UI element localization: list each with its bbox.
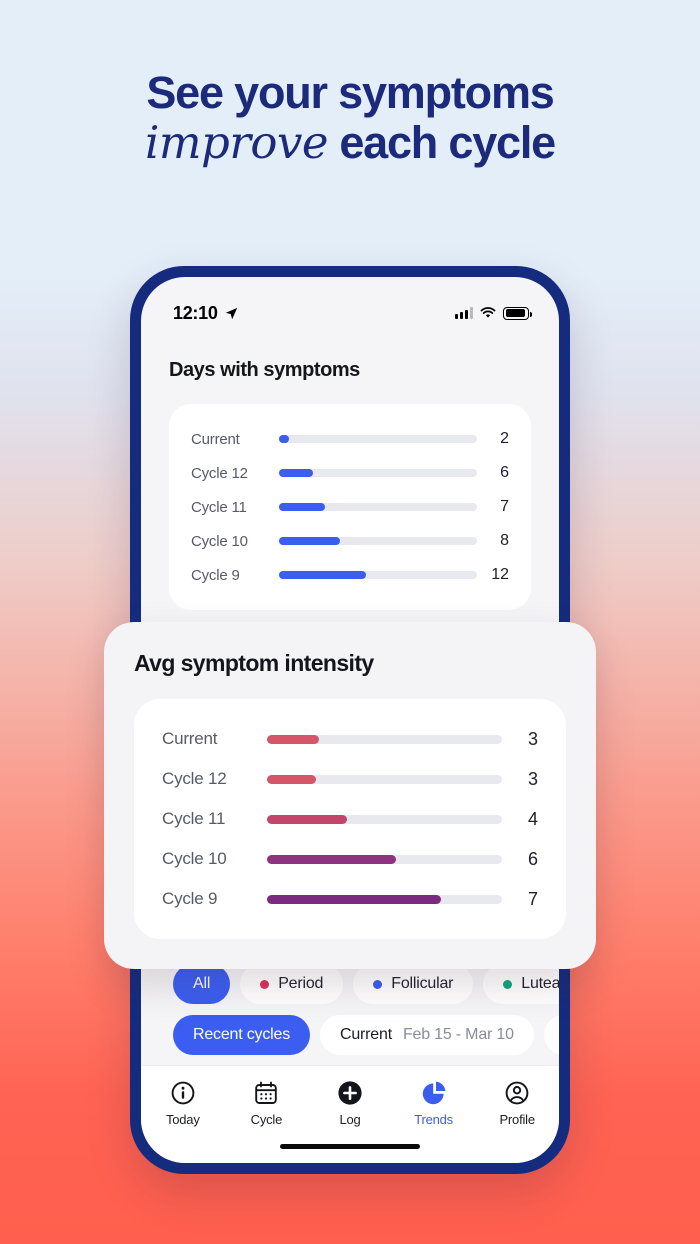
row-value: 3 [502, 769, 538, 790]
period-dot-icon [260, 980, 269, 989]
cellular-signal-icon [455, 307, 473, 319]
nav-item-profile[interactable]: Profile [475, 1080, 559, 1127]
chip-period[interactable]: Period [240, 964, 343, 1004]
avg-symptom-intensity-card: Avg symptom intensity Current 3 Cycle 12… [104, 622, 596, 969]
table-row: Cycle 10 8 [191, 524, 509, 558]
table-row: Current 3 [162, 719, 538, 759]
nav-label: Profile [499, 1112, 534, 1127]
bar-track [267, 735, 502, 744]
bar-track [279, 571, 477, 579]
table-row: Cycle 11 4 [162, 799, 538, 839]
days-with-symptoms-card: Days with symptoms Current 2 Cycle 12 6 … [141, 333, 559, 610]
chip-current-range[interactable]: Current Feb 15 - Mar 10 [320, 1015, 534, 1055]
row-label: Cycle 9 [162, 889, 267, 909]
row-value: 2 [477, 430, 509, 448]
days-card-panel: Current 2 Cycle 12 6 Cycle 11 7 Cycle 10 [169, 404, 531, 610]
intensity-card-panel: Current 3 Cycle 12 3 Cycle 11 4 Cycle 10… [134, 699, 566, 939]
bar-track [267, 815, 502, 824]
chip-label: Period [278, 975, 323, 993]
follicular-dot-icon [373, 980, 382, 989]
chip-all[interactable]: All [173, 964, 230, 1004]
row-label: Current [191, 431, 279, 448]
headline-line-1: See your symptoms [0, 68, 700, 118]
status-time: 12:10 [173, 303, 218, 324]
table-row: Cycle 12 3 [162, 759, 538, 799]
filter-chips-area: All Period Follicular Luteal Recent cycl [141, 964, 559, 1055]
nav-item-cycle[interactable]: Cycle [225, 1080, 309, 1127]
headline-emphasis: improve [145, 116, 328, 169]
bar-track [267, 895, 502, 904]
row-label: Cycle 12 [191, 465, 279, 482]
row-value: 4 [502, 809, 538, 830]
row-value: 12 [477, 566, 509, 584]
headline-line-2: improve each cycle [0, 118, 700, 168]
plus-circle-icon [337, 1080, 363, 1106]
location-arrow-icon [225, 307, 238, 320]
nav-item-trends[interactable]: Trends [392, 1080, 476, 1127]
bar-track [279, 469, 477, 477]
info-circle-icon [170, 1080, 196, 1106]
row-label: Cycle 12 [162, 769, 267, 789]
nav-item-today[interactable]: Today [141, 1080, 225, 1127]
status-bar-right [455, 307, 529, 320]
row-label: Cycle 11 [162, 809, 267, 829]
chip-label: Current [340, 1026, 392, 1044]
bar-track [279, 537, 477, 545]
chip-label: Follicular [391, 975, 453, 993]
row-value: 6 [502, 849, 538, 870]
battery-icon [503, 307, 529, 320]
nav-label: Trends [414, 1112, 453, 1127]
table-row: Cycle 11 7 [191, 490, 509, 524]
bar-track [279, 435, 477, 443]
row-value: 3 [502, 729, 538, 750]
page-headline: See your symptoms improve each cycle [0, 68, 700, 169]
chip-label: Recent cycles [193, 1026, 290, 1044]
wifi-icon [480, 307, 496, 319]
chip-recent-cycles[interactable]: Recent cycles [173, 1015, 310, 1055]
row-value: 6 [477, 464, 509, 482]
status-bar: 12:10 [141, 277, 559, 333]
bar-track [267, 855, 502, 864]
chip-label: All [193, 975, 210, 993]
table-row: Cycle 12 6 [191, 456, 509, 490]
intensity-card-title: Avg symptom intensity [134, 650, 566, 677]
home-indicator [280, 1144, 420, 1149]
row-label: Cycle 11 [191, 499, 279, 516]
nav-label: Cycle [251, 1112, 283, 1127]
table-row: Cycle 10 6 [162, 839, 538, 879]
row-label: Cycle 9 [191, 567, 279, 584]
chip-date-range: Feb 15 - Mar 10 [403, 1026, 514, 1044]
table-row: Cycle 9 7 [162, 879, 538, 919]
row-label: Cycle 10 [191, 533, 279, 550]
row-label: Current [162, 729, 267, 749]
chip-follicular[interactable]: Follicular [353, 964, 473, 1004]
row-label: Cycle 10 [162, 849, 267, 869]
days-card-title: Days with symptoms [169, 359, 531, 382]
table-row: Current 2 [191, 422, 509, 456]
chip-label: Luteal [521, 975, 559, 993]
chip-luteal[interactable]: Luteal [483, 964, 559, 1004]
row-value: 7 [502, 889, 538, 910]
luteal-dot-icon [503, 980, 512, 989]
nav-label: Log [339, 1112, 360, 1127]
nav-label: Today [166, 1112, 200, 1127]
calendar-icon [253, 1080, 279, 1106]
table-row: Cycle 9 12 [191, 558, 509, 592]
headline-line-2-rest: each cycle [328, 117, 555, 168]
bar-track [279, 503, 477, 511]
row-value: 7 [477, 498, 509, 516]
phase-filter-row: All Period Follicular Luteal [141, 964, 559, 1004]
chip-next-partial[interactable] [544, 1015, 559, 1055]
status-bar-left: 12:10 [173, 303, 238, 324]
pie-chart-icon [421, 1080, 447, 1106]
bar-track [267, 775, 502, 784]
nav-item-log[interactable]: Log [308, 1080, 392, 1127]
range-filter-row: Recent cycles Current Feb 15 - Mar 10 [141, 1015, 559, 1055]
row-value: 8 [477, 532, 509, 550]
person-circle-icon [504, 1080, 530, 1106]
